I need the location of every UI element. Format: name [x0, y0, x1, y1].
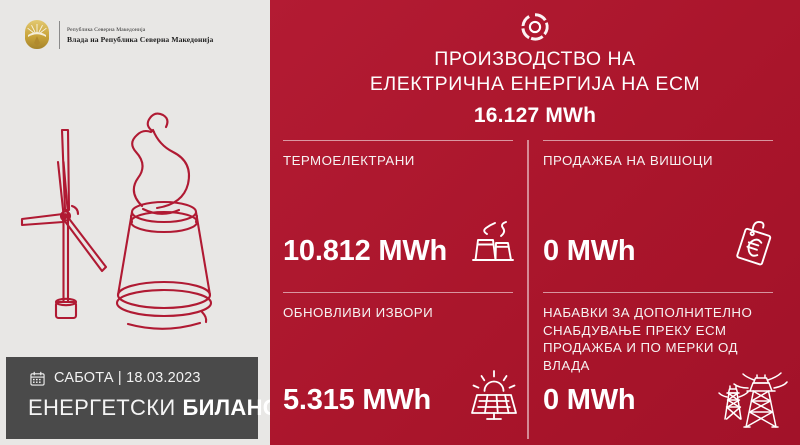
- date-row: САБОТА | 18.03.2023: [30, 370, 201, 386]
- government-logo-text: Република Северна Македонија Влада на Ре…: [67, 27, 213, 44]
- metric-rule: [543, 140, 773, 141]
- solar-panel-sun-icon: [465, 365, 523, 423]
- energy-balance-word1: ЕНЕРГЕТСКИ: [28, 395, 175, 421]
- metric-label-procurement: НАБАВКИ ЗА ДОПОЛНИТЕЛНО СНАБДУВАЊЕ ПРЕКУ…: [543, 304, 781, 374]
- date-card: САБОТА | 18.03.2023 ЕНЕРГЕТСКИ БИЛАНС: [6, 357, 258, 439]
- price-tag-euro-icon: [729, 216, 781, 272]
- government-logo-line2: Влада на Република Северна Македонија: [67, 35, 213, 44]
- metric-value-renewables: 5.315 MWh: [283, 384, 431, 417]
- metric-rule: [283, 292, 513, 293]
- metric-rule: [283, 140, 513, 141]
- calendar-icon: [30, 371, 45, 386]
- date-text: САБОТА | 18.03.2023: [54, 370, 201, 386]
- metric-card-procurement: НАБАВКИ ЗА ДОПОЛНИТЕЛНО СНАБДУВАЊЕ ПРЕКУ…: [543, 292, 787, 439]
- metric-value-procurement: 0 MWh: [543, 384, 635, 417]
- metrics-panel: ПРОИЗВОДСТВО НА ЕЛЕКТРИЧНА ЕНЕРГИЈА НА Е…: [270, 0, 800, 445]
- metric-rule: [543, 292, 773, 293]
- panel-title-line2: ЕЛЕКТРИЧНА ЕНЕРГИЈА НА ЕСМ: [270, 72, 800, 97]
- government-logo: Република Северна Македонија Влада на Ре…: [22, 19, 213, 51]
- metric-value-thermal: 10.812 MWh: [283, 235, 447, 268]
- panel-title-line1: ПРОИЗВОДСТВО НА: [270, 47, 800, 72]
- panel-total-value: 16.127 MWh: [270, 104, 800, 128]
- macedonia-coat-of-arms-icon: [22, 19, 52, 51]
- wind-turbine-and-cooling-tower-illustration: [6, 112, 256, 344]
- energy-balance-title: ЕНЕРГЕТСКИ БИЛАНС: [28, 395, 279, 421]
- metric-label-surplus-sale: ПРОДАЖБА НА ВИШОЦИ: [543, 152, 781, 170]
- transmission-towers-icon: [717, 369, 787, 431]
- power-plant-cooling-towers-icon: [465, 216, 523, 274]
- metric-value-surplus-sale: 0 MWh: [543, 235, 635, 268]
- energy-balance-word2: БИЛАНС: [182, 395, 279, 421]
- government-logo-line1: Република Северна Македонија: [67, 27, 213, 33]
- logo-divider: [59, 21, 60, 49]
- vertical-divider: [527, 140, 529, 439]
- metric-card-thermal: ТЕРМОЕЛЕКТРАНИ 10.812 MWh: [283, 140, 527, 290]
- metric-card-renewables: ОБНОВЛИВИ ИЗВОРИ 5.315 MWh: [283, 292, 527, 439]
- metric-label-thermal: ТЕРМОЕЛЕКТРАНИ: [283, 152, 521, 170]
- left-column: Република Северна Македонија Влада на Ре…: [0, 0, 270, 445]
- infographic-root: Република Северна Македонија Влада на Ре…: [0, 0, 800, 445]
- panel-title-block: ПРОИЗВОДСТВО НА ЕЛЕКТРИЧНА ЕНЕРГИЈА НА Е…: [270, 47, 800, 128]
- metric-card-surplus-sale: ПРОДАЖБА НА ВИШОЦИ 0 MWh: [543, 140, 787, 290]
- metric-label-renewables: ОБНОВЛИВИ ИЗВОРИ: [283, 304, 521, 322]
- esm-swirl-logo-icon: [518, 10, 552, 44]
